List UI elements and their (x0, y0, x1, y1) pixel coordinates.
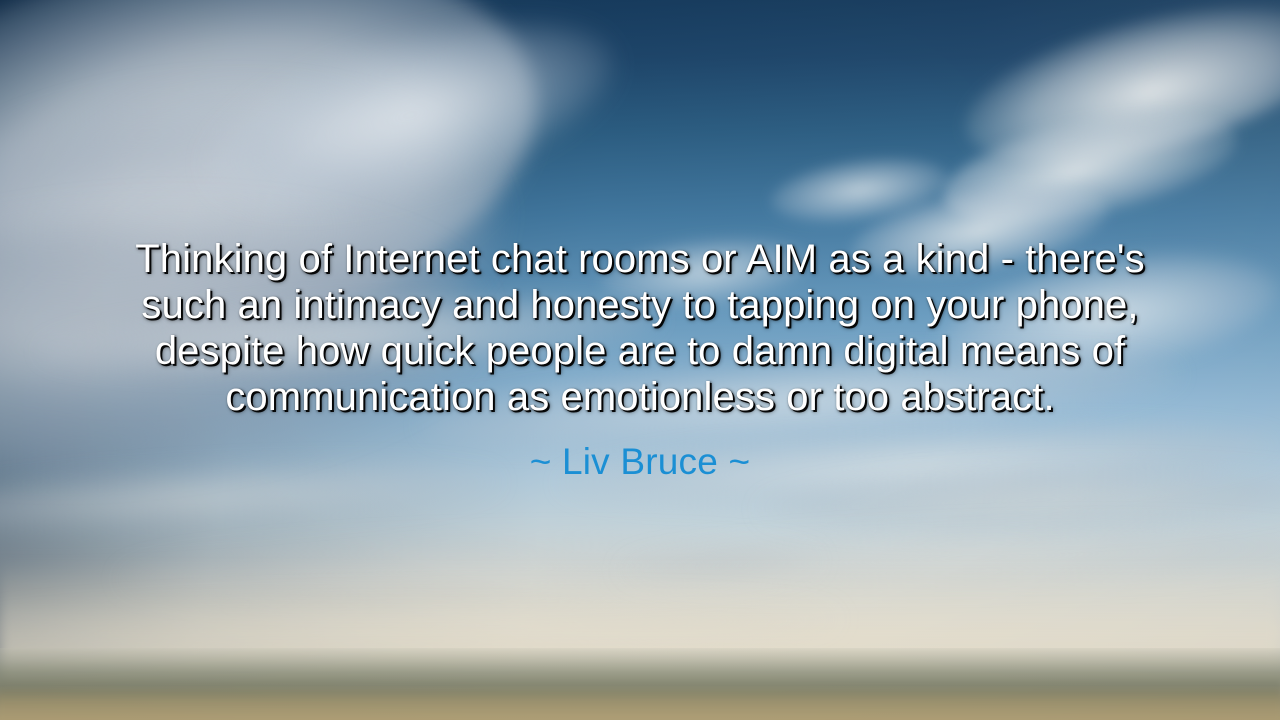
quote-card: Thinking of Internet chat rooms or AIM a… (0, 0, 1280, 720)
quote-text: Thinking of Internet chat rooms or AIM a… (110, 236, 1170, 420)
quote-overlay: Thinking of Internet chat rooms or AIM a… (0, 0, 1280, 720)
quote-author: ~ Liv Bruce ~ (530, 440, 751, 484)
